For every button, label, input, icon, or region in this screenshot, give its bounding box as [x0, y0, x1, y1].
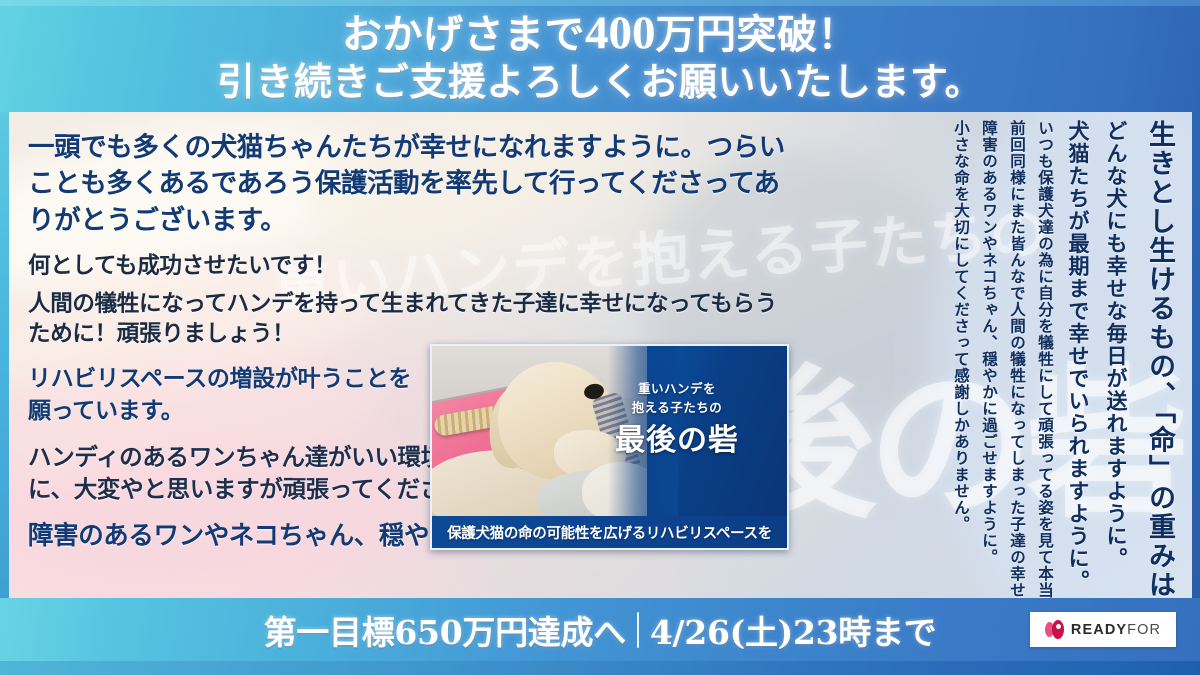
bottom-accent-strip: [0, 661, 1200, 675]
main-content-area: 重いハンデを抱える子たちの 最後の砦 一頭でも多くの犬猫ちゃんたちが幸せになれま…: [0, 112, 1200, 598]
left-accent-border: [0, 112, 9, 598]
logo-brand-bold: READY: [1071, 622, 1127, 638]
message-4: リハビリスペースの増設が叶うことを願っています。: [28, 363, 428, 426]
vertical-message-5: 前回同様にまた皆んなで人間の犠牲になってしまった子達の幸せの為に頑張りましょう！: [1003, 120, 1031, 598]
vertical-message-6: 障害のあるワンやネコちゃん、穏やかに過ごせますように。: [975, 120, 1003, 566]
footer-text-group: 第一目標650万円達成へ 4/26(土)23時まで: [264, 606, 937, 654]
message-1: 一頭でも多くの犬猫ちゃんたちが幸せになれますように。つらいことも多くあるであろう…: [28, 130, 798, 239]
card-title: 最後の砦: [581, 424, 773, 459]
header-headline-primary: おかげさまで400万円突破！: [342, 7, 858, 60]
logo-brand-light: FOR: [1127, 622, 1161, 638]
readyfor-mark-icon: [1045, 620, 1064, 639]
project-thumbnail-card[interactable]: 重いハンデを 抱える子たちの 最後の砦 保護犬猫の命の可能性を広げるリハビリスペ…: [430, 344, 789, 550]
header-prefix: おかげさまで: [342, 12, 585, 57]
card-subtitle-line-2: 抱える子たちの: [581, 399, 773, 418]
message-3: 人間の犠牲になってハンデを持って生まれてきた子達に幸せになってもらうために！頑張…: [28, 289, 798, 349]
footer-banner: 第一目標650万円達成へ 4/26(土)23時まで READYFOR: [0, 598, 1200, 661]
header-text-group: おかげさまで400万円突破！ 引き続きご支援よろしくお願いいたします。: [0, 0, 1200, 112]
card-photo-area: 重いハンデを 抱える子たちの 最後の砦: [432, 346, 787, 516]
footer-deadline-text: 4/26(土)23時まで: [650, 606, 937, 654]
vertical-message-3: 犬猫たちが最期まで幸せでいられますように。: [1059, 120, 1097, 593]
right-accent-border: [1192, 112, 1200, 598]
readyfor-logo[interactable]: READYFOR: [1030, 612, 1176, 647]
footer-divider: [637, 612, 639, 648]
card-overlay-text: 重いハンデを 抱える子たちの 最後の砦: [581, 380, 773, 458]
banner-root: おかげさまで400万円突破！ 引き続きご支援よろしくお願いいたします。 重いハン…: [0, 0, 1200, 675]
card-subtitle-line-1: 重いハンデを: [581, 380, 773, 399]
vertical-message-7: 小さな命を大切にしてくださって感謝しかありません。: [947, 120, 975, 533]
header-suffix: 万円突破！: [656, 12, 859, 57]
message-2: 何としても成功させたいです！: [28, 251, 798, 281]
header-headline-secondary: 引き続きご支援よろしくお願いいたします。: [217, 62, 983, 105]
vertical-message-2: どんな犬にも幸せな毎日が送れますように。: [1097, 120, 1135, 570]
footer-goal-text: 第一目標650万円達成へ: [264, 606, 626, 654]
header-banner: おかげさまで400万円突破！ 引き続きご支援よろしくお願いいたします。: [0, 0, 1200, 112]
vertical-message-4: いつも保護犬達の為に自分を犠牲にして頑張ってる姿を見て本当に頭が下がります。: [1031, 120, 1059, 598]
card-caption-bar: 保護犬猫の命の可能性を広げるリハビリスペースを: [432, 516, 787, 548]
readyfor-wordmark: READYFOR: [1071, 622, 1161, 638]
card-caption-text: 保護犬猫の命の可能性を広げるリハビリスペースを: [447, 522, 772, 543]
vertical-messages-group: 生きとし生けるもの、「命」の重みはみんな同じです！ どんな犬にも幸せな毎日が送れ…: [947, 120, 1184, 592]
vertical-message-1: 生きとし生けるもの、「命」の重みはみんな同じです！: [1135, 120, 1184, 598]
header-amount: 400: [585, 7, 656, 59]
